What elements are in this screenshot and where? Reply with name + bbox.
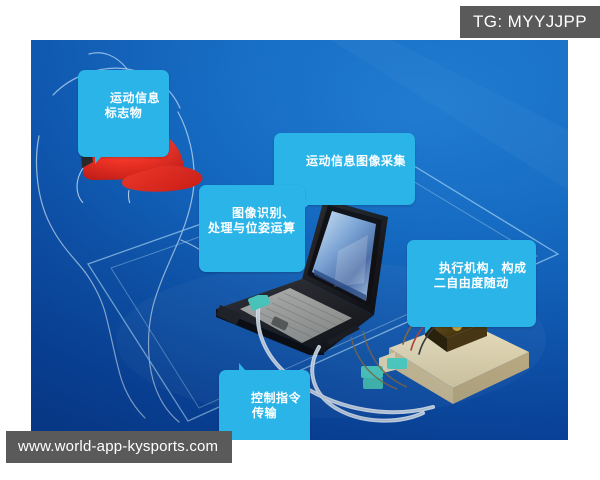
callout-actuator-tail xyxy=(425,326,432,334)
callout-control-command-tail xyxy=(239,363,246,371)
screenshot-stage: 运动信息 标志物 运动信息图像采集 图像识别、 处理与位姿运算 执行机构，构成 … xyxy=(0,0,600,480)
callout-control-command-label: 控制指令 传输 xyxy=(251,391,301,420)
site-url-watermark: www.world-app-kysports.com xyxy=(6,431,232,463)
callout-image-capture-label: 运动信息图像采集 xyxy=(306,154,406,168)
telegram-watermark: TG: MYYJJPP xyxy=(460,6,600,38)
callout-control-command[interactable]: 控制指令 传输 xyxy=(219,370,310,440)
callout-marker-tail xyxy=(95,156,102,164)
callout-image-processing-label: 图像识别、 处理与位姿运算 xyxy=(208,206,296,235)
callout-actuator[interactable]: 执行机构，构成 二自由度随动 xyxy=(407,240,536,327)
callout-marker-label: 运动信息 标志物 xyxy=(105,91,160,120)
callout-actuator-label: 执行机构，构成 二自由度随动 xyxy=(434,261,527,290)
callout-image-processing-tail xyxy=(303,197,311,209)
callout-image-processing[interactable]: 图像识别、 处理与位姿运算 xyxy=(199,185,305,272)
thin-wires xyxy=(351,331,407,389)
callout-marker[interactable]: 运动信息 标志物 xyxy=(78,70,169,157)
illustration-panel: 运动信息 标志物 运动信息图像采集 图像识别、 处理与位姿运算 执行机构，构成 … xyxy=(31,40,568,440)
